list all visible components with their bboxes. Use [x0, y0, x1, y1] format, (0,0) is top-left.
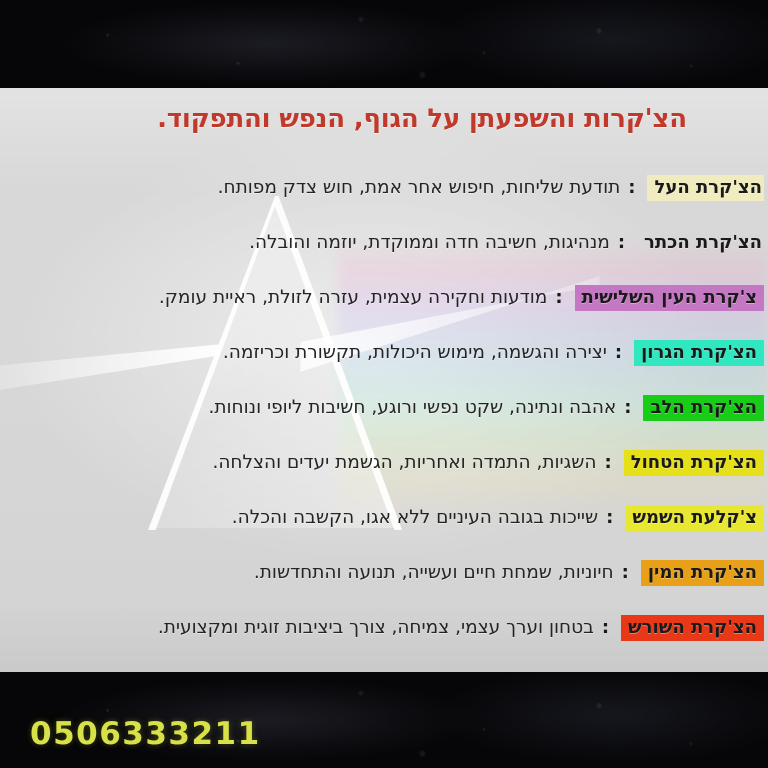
chakra-label: הצ'קרת הטחול [624, 450, 764, 476]
chakra-row-third-eye: צ'קרת העין השלישית:מודעות וחקירה עצמית, … [0, 270, 768, 325]
label-separator: : [614, 562, 637, 583]
label-separator: : [596, 452, 619, 473]
chakra-description: מודעות וחקירה עצמית, עזרה לזולת, ראיית ע… [10, 287, 547, 308]
chakra-description: מנהיגות, חשיבה חדה וממוקדת, יוזמה והובלה… [10, 232, 610, 253]
screenshot-canvas: הצ'קרות והשפעתן על הגוף, הנפש והתפקוד. ה… [0, 0, 768, 768]
chakra-description: חיוניות, שמחת חיים ועשייה, תנועה והתחדשו… [10, 562, 614, 583]
chakra-row-solar-plexus: צ'קלעת השמש:שייכות בגובה העיניים ללא אגו… [0, 490, 768, 545]
chakra-label: צ'קרת העין השלישית [575, 285, 764, 311]
infographic-panel: הצ'קרות והשפעתן על הגוף, הנפש והתפקוד. ה… [0, 88, 768, 672]
chakra-description: תודעת שליחות, חיפוש אחר אמת, חוש צדק מפו… [10, 177, 620, 198]
chakra-row-root: הצ'קרת השורש:בטחון וערך עצמי, צמיחה, צור… [0, 600, 768, 655]
label-separator: : [620, 177, 643, 198]
chakra-label: הצ'קרת המין [641, 560, 764, 586]
chakra-label: הצ'קרת העל [647, 175, 764, 201]
label-separator: : [547, 287, 570, 308]
label-separator: : [598, 507, 621, 528]
label-separator: : [610, 232, 633, 253]
chakra-row-throat: הצ'קרת הגרון:יצירה והגשמה, מימוש היכולות… [0, 325, 768, 380]
chakra-row-crown: הצ'קרת הכתר:מנהיגות, חשיבה חדה וממוקדת, … [0, 215, 768, 270]
label-separator: : [594, 617, 617, 638]
label-separator: : [616, 397, 639, 418]
chakra-label: הצ'קרת השורש [621, 615, 764, 641]
chakra-label: הצ'קרת הכתר [637, 230, 764, 256]
chakra-row-spleen: הצ'קרת הטחול:השגיות, התמדה ואחריות, הגשמ… [0, 435, 768, 490]
page-title: הצ'קרות והשפעתן על הגוף, הנפש והתפקוד. [72, 104, 768, 134]
label-separator: : [607, 342, 630, 363]
chakra-row-super: הצ'קרת העל:תודעת שליחות, חיפוש אחר אמת, … [0, 160, 768, 215]
chakra-row-sacral: הצ'קרת המין:חיוניות, שמחת חיים ועשייה, ת… [0, 545, 768, 600]
chakra-description: השגיות, התמדה ואחריות, הגשמת יעדים והצלח… [10, 452, 596, 473]
contact-phone-number[interactable]: 0506333211 [30, 716, 261, 752]
chakra-row-heart: הצ'קרת הלב:אהבה ונתינה, שקט נפשי ורוגע, … [0, 380, 768, 435]
infographic-content: הצ'קרות והשפעתן על הגוף, הנפש והתפקוד. ה… [0, 88, 768, 672]
chakra-description: שייכות בגובה העיניים ללא אגו, הקשבה והכל… [10, 507, 598, 528]
chakra-label: הצ'קרת הגרון [634, 340, 764, 366]
chakra-list: הצ'קרת העל:תודעת שליחות, חיפוש אחר אמת, … [0, 160, 768, 655]
letterbox-bar-top [0, 0, 768, 88]
chakra-description: יצירה והגשמה, מימוש היכולות, תקשורת וכרי… [10, 342, 607, 363]
chakra-description: בטחון וערך עצמי, צמיחה, צורך ביציבות זוג… [10, 617, 594, 638]
chakra-label: צ'קלעת השמש [625, 505, 764, 531]
chakra-description: אהבה ונתינה, שקט נפשי ורוגע, חשיבות ליופ… [10, 397, 616, 418]
chakra-label: הצ'קרת הלב [643, 395, 764, 421]
